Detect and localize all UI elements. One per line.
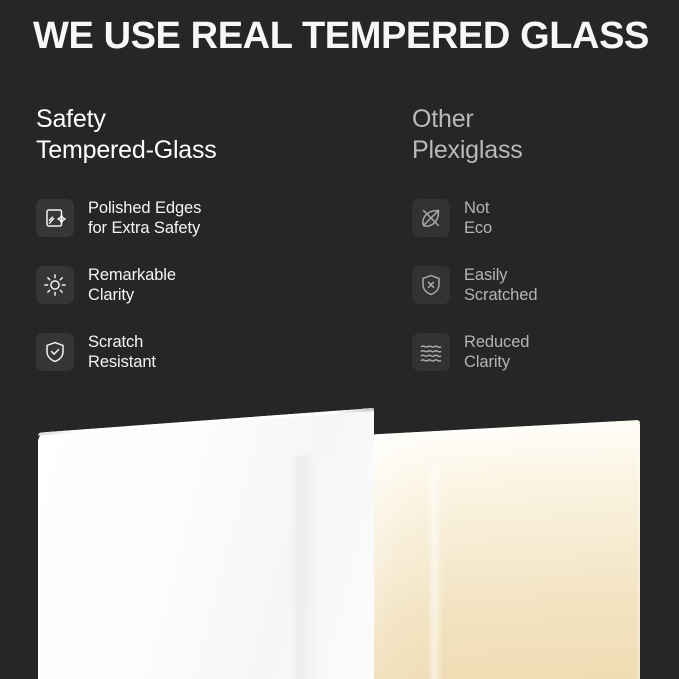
sun-brightness-icon bbox=[36, 266, 74, 304]
feature-polished-edges: Polished Edges for Extra Safety bbox=[36, 194, 376, 242]
wavy-lines-icon bbox=[412, 333, 450, 371]
leaf-crossed-out-icon bbox=[412, 199, 450, 237]
shield-x-icon bbox=[412, 266, 450, 304]
comparison-infographic: WE USE REAL TEMPERED GLASS Safety Temper… bbox=[0, 0, 679, 679]
plexiglass-panel bbox=[372, 420, 640, 679]
shield-check-icon bbox=[36, 333, 74, 371]
feature-reduced-clarity: Reduced Clarity bbox=[412, 328, 672, 376]
feature-label: Easily Scratched bbox=[464, 265, 537, 306]
feature-label: Remarkable Clarity bbox=[88, 265, 176, 306]
feature-label: Reduced Clarity bbox=[464, 332, 529, 373]
feature-label: Not Eco bbox=[464, 198, 492, 239]
feature-remarkable-clarity: Remarkable Clarity bbox=[36, 261, 376, 309]
glass-panels-photo bbox=[0, 398, 679, 679]
feature-easily-scratched: Easily Scratched bbox=[412, 261, 672, 309]
feature-not-eco: Not Eco bbox=[412, 194, 672, 242]
page-title: WE USE REAL TEMPERED GLASS bbox=[33, 16, 653, 58]
column-tempered-glass: Safety Tempered-Glass Polished Edges for… bbox=[36, 104, 376, 395]
column-title-tempered-glass: Safety Tempered-Glass bbox=[36, 104, 376, 166]
feature-label: Scratch Resistant bbox=[88, 332, 156, 373]
polished-edge-sparkle-icon bbox=[36, 199, 74, 237]
feature-label: Polished Edges for Extra Safety bbox=[88, 198, 201, 239]
tempered-glass-panel bbox=[38, 408, 374, 679]
column-plexiglass: Other Plexiglass Not Eco Easily Scratche… bbox=[412, 104, 672, 395]
feature-scratch-resistant: Scratch Resistant bbox=[36, 328, 376, 376]
column-title-plexiglass: Other Plexiglass bbox=[412, 104, 672, 166]
